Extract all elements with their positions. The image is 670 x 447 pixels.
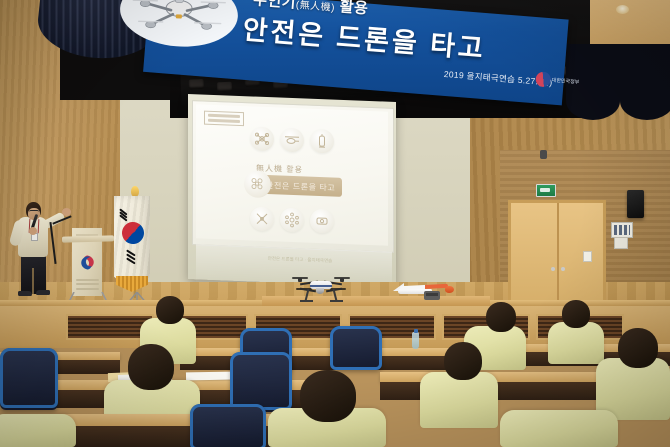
propeller-x-icon — [250, 206, 274, 231]
camera-drone-icon — [310, 209, 334, 234]
recessed-ceiling-light — [616, 5, 629, 14]
ceiling-light-fixture — [189, 79, 204, 90]
audience-member-body — [548, 322, 604, 364]
audience-member-head — [486, 302, 516, 332]
government-logo-caption: 대한민국정부 — [551, 77, 579, 86]
chair-back-rim — [230, 352, 292, 410]
handout-papers — [186, 372, 232, 381]
vertical-drone-icon — [310, 129, 334, 154]
drone-illustration-icon — [130, 0, 227, 34]
light-switch[interactable] — [583, 251, 592, 262]
chair-back-rim — [0, 348, 58, 408]
quadcopter-skid — [330, 300, 343, 302]
projected-slide: 無人機 활용 안전은 드론을 타고 — [196, 104, 388, 245]
chair-back-rim — [190, 404, 266, 447]
banner-headline: 안전은 드론을 타고 — [241, 8, 487, 66]
audience-member-body — [420, 372, 498, 428]
audience-member-head — [618, 328, 658, 368]
wall-outlet-panel[interactable] — [614, 237, 628, 249]
presenter-left-shoe — [18, 291, 32, 296]
helicopter-drone-icon — [280, 128, 304, 153]
presenter-legs — [21, 254, 46, 294]
wall-speaker — [627, 190, 644, 218]
quadcopter-icon — [250, 126, 274, 151]
audience-member-head — [156, 296, 184, 324]
korea-government-taeguk-emblem — [79, 254, 96, 271]
audience-member-body — [0, 414, 76, 447]
drone-display-table — [262, 296, 490, 306]
slide-corner-tag — [204, 111, 244, 127]
audience-member-body — [500, 410, 618, 447]
presenter-glasses — [29, 210, 39, 214]
door-handle-left[interactable] — [551, 267, 555, 271]
auditorium-photo: 무인기(無人機) 활용 안전은 드론을 타고 2019 을지태극연습 5.27.… — [0, 0, 670, 447]
flag-finial — [131, 186, 139, 197]
emergency-exit-sign — [536, 184, 556, 197]
podium-nameplate — [76, 276, 99, 292]
right-curtain-valance — [566, 44, 670, 96]
uav-nose — [445, 286, 454, 293]
chair-back-rim — [330, 326, 382, 370]
water-bottle — [412, 332, 419, 349]
presenter-left-hand — [29, 227, 37, 235]
wall-control-panel[interactable] — [611, 222, 633, 238]
hexacopter-icon — [280, 208, 304, 233]
wall-camera-icon — [540, 150, 547, 159]
door-handle-right[interactable] — [561, 267, 565, 271]
audience-member-head — [444, 342, 482, 380]
audience-member-head — [300, 370, 356, 422]
quadcopter-motor — [340, 278, 344, 282]
quadcopter-gimbal-camera-icon — [316, 288, 324, 294]
ceiling-light-fixture — [217, 82, 232, 93]
uav-display-stand — [424, 291, 440, 300]
presenter-right-shoe — [36, 290, 50, 295]
quadcopter-motor — [298, 278, 302, 282]
quadcopter-skid — [300, 300, 313, 302]
slide-badge-icon — [244, 170, 271, 198]
audience-member-head — [128, 344, 174, 390]
audience-member-head — [562, 300, 590, 328]
quadcopter-stripe — [310, 285, 332, 287]
